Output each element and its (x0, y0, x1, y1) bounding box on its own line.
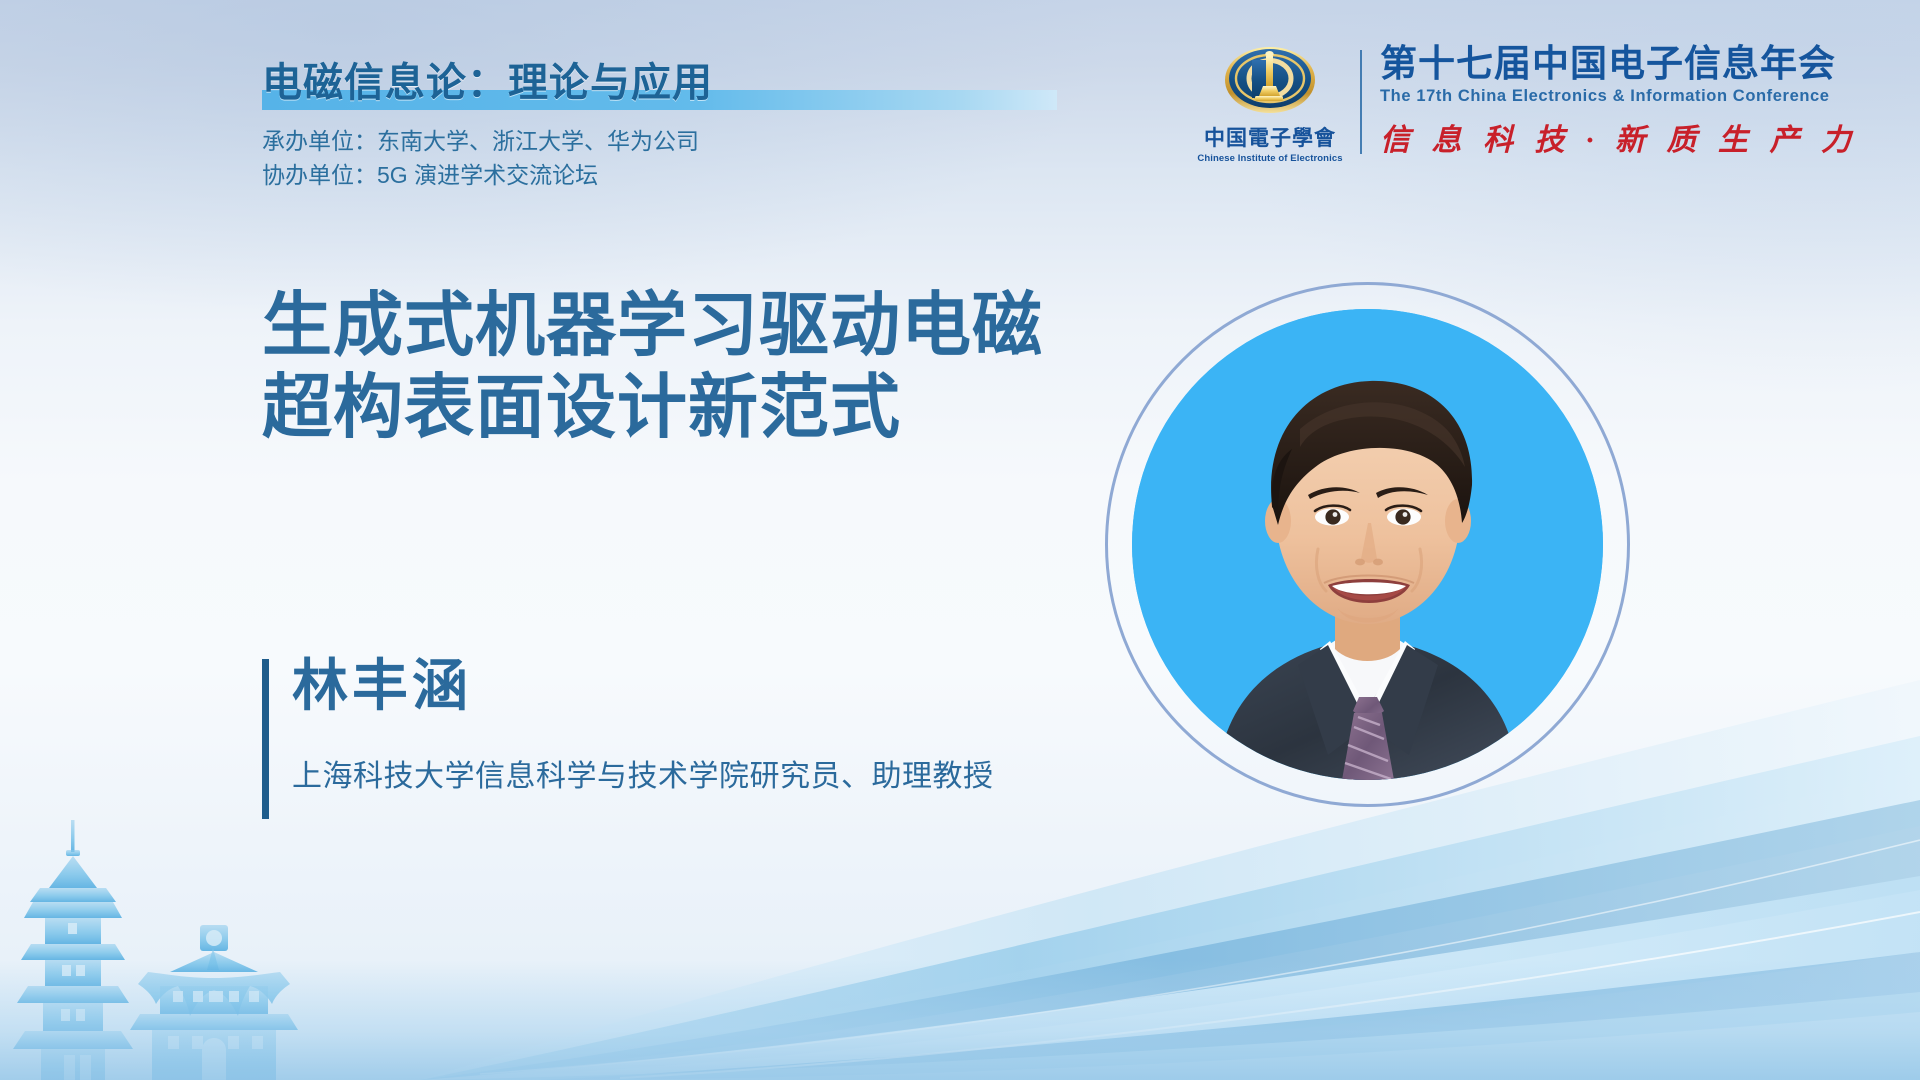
cie-emblem-icon (1222, 40, 1318, 120)
speaker-block: 林丰涵 上海科技大学信息科学与技术学院研究员、助理教授 (262, 655, 994, 795)
speaker-affiliation: 上海科技大学信息科学与技术学院研究员、助理教授 (292, 751, 994, 795)
conference-logo-lockup: 中国電子學會 Chinese Institute of Electronics … (1194, 40, 1858, 164)
presentation-title-slide: 电磁信息论：理论与应用 承办单位：东南大学、浙江大学、华为公司 协办单位：5G … (0, 0, 1920, 1080)
forum-title-wrapper: 电磁信息论：理论与应用 (262, 50, 713, 108)
speaker-accent-bar (262, 659, 269, 819)
conference-name-english: The 17th China Electronics & Information… (1380, 87, 1858, 106)
conference-slogan: 信 息 科 技 · 新 质 生 产 力 (1380, 115, 1858, 159)
bottom-gradient-band (0, 960, 1920, 1080)
logo-divider (1360, 50, 1362, 154)
cie-logo-chinese-name: 中国電子學會 (1204, 122, 1336, 152)
gate-tower-silhouette-icon (130, 925, 298, 1080)
architecture-silhouette-group (0, 780, 430, 1080)
forum-info-block: 电磁信息论：理论与应用 承办单位：东南大学、浙江大学、华为公司 协办单位：5G … (262, 50, 713, 191)
speaker-name: 林丰涵 (292, 655, 994, 717)
cie-logo: 中国電子學會 Chinese Institute of Electronics (1194, 40, 1346, 164)
forum-host-line: 承办单位：东南大学、浙江大学、华为公司 (262, 126, 713, 158)
conference-name-chinese: 第十七届中国电子信息年会 (1380, 45, 1858, 84)
slide-header: 电磁信息论：理论与应用 承办单位：东南大学、浙江大学、华为公司 协办单位：5G … (0, 0, 1920, 215)
avatar (1105, 282, 1630, 807)
speaker-portrait-photo (1132, 309, 1603, 780)
pagoda-silhouette-icon (13, 820, 133, 1080)
page-title: 生成式机器学习驱动电磁超构表面设计新范式 (262, 285, 1102, 449)
forum-cohost-line: 协办单位：5G 演进学术交流论坛 (262, 160, 713, 192)
conference-name-block: 第十七届中国电子信息年会 The 17th China Electronics … (1380, 45, 1858, 160)
forum-title: 电磁信息论：理论与应用 (262, 50, 713, 108)
cie-logo-english-name: Chinese Institute of Electronics (1197, 153, 1342, 164)
